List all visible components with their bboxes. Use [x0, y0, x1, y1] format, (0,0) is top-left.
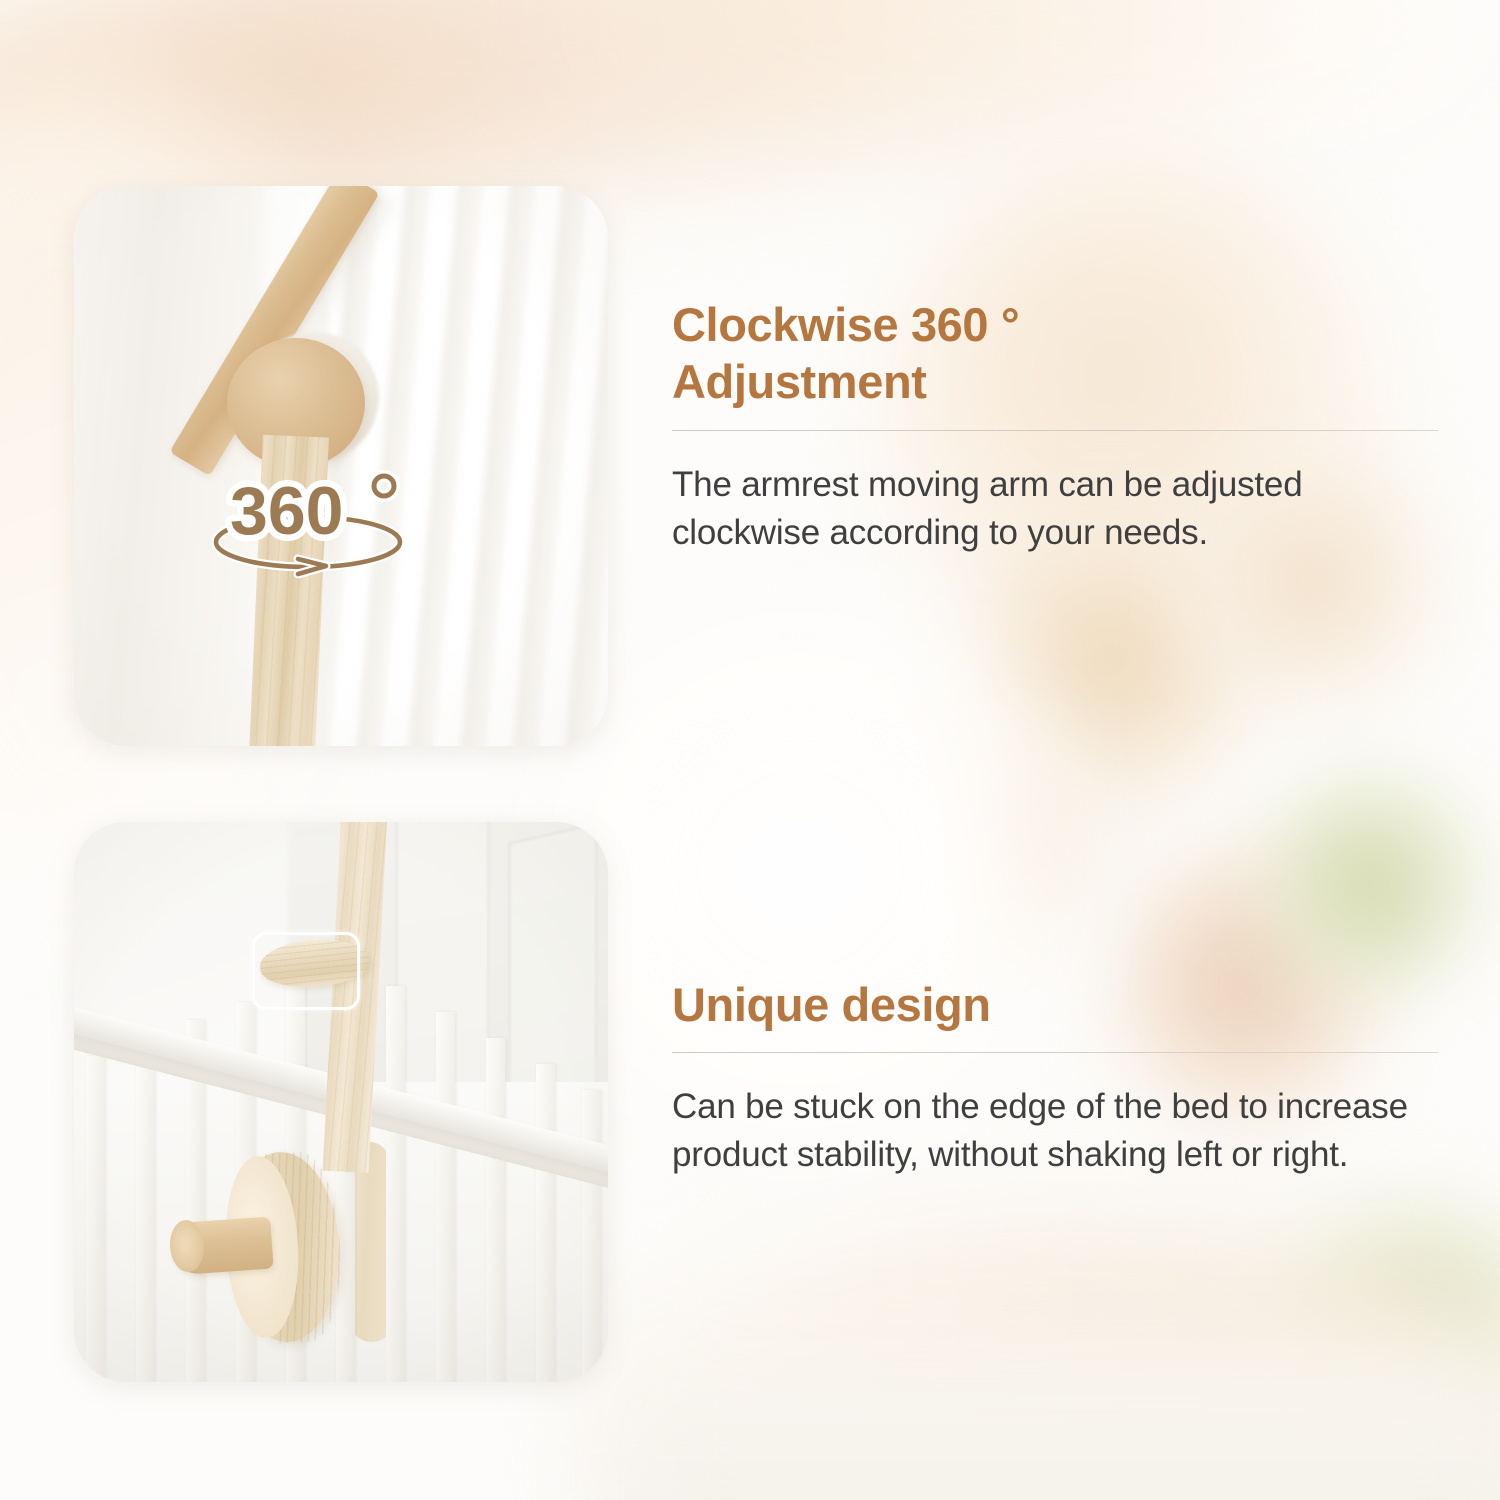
feature-heading-1: Clockwise 360 ° Adjustment — [672, 296, 1438, 411]
photo2-vignette — [74, 822, 608, 1382]
background-floor — [600, 1340, 1500, 1500]
feature-heading-2-line-1: Unique design — [672, 976, 1438, 1033]
feature-heading-1-line-2: Adjustment — [672, 353, 1438, 410]
feature-body-1: The armrest moving arm can be adjusted c… — [672, 461, 1438, 557]
rotation-360-badge: .b-out { fill:none; stroke:#ffffff; stro… — [202, 454, 422, 584]
feature-body-2: Can be stuck on the edge of the bed to i… — [672, 1083, 1438, 1179]
feature-block-clockwise-360-adjustment: Clockwise 360 ° Adjustment The armrest m… — [672, 296, 1438, 557]
feature-divider-1 — [672, 430, 1438, 431]
feature-heading-2: Unique design — [672, 976, 1438, 1033]
crib-rail-mount-photo — [74, 822, 608, 1382]
badge-360-value: 360 — [230, 473, 343, 549]
feature-block-unique-design: Unique design Can be stuck on the edge o… — [672, 976, 1438, 1179]
background-blob-green-1 — [1260, 760, 1480, 1010]
wooden-pivot-arm-photo: .b-out { fill:none; stroke:#ffffff; stro… — [74, 186, 608, 746]
feature-divider-2 — [672, 1052, 1438, 1053]
feature-heading-1-line-1: Clockwise 360 ° — [672, 296, 1438, 353]
